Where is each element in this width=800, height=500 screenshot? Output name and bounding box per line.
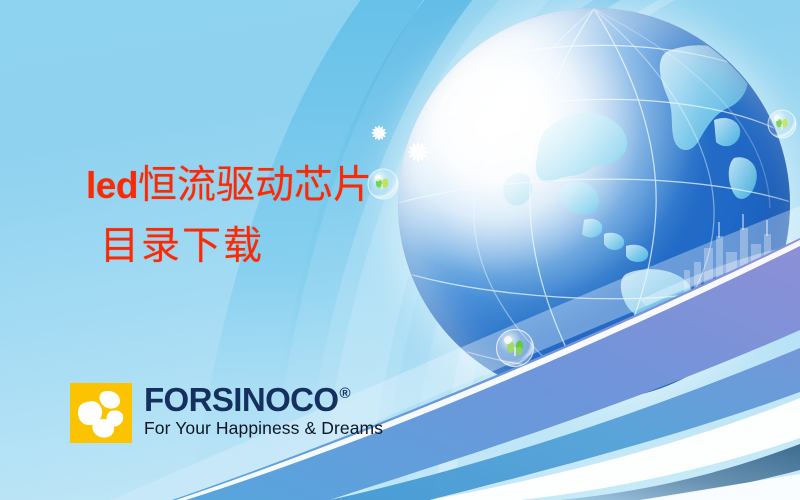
headline-line-2: 目录下载 [100,227,486,266]
pinwheel-flower-mark [70,383,132,443]
logo-text-block: FORSINOCO ® For Your Happiness & Dreams [144,383,383,439]
headline-text: led恒流驱动芯片 目录下载 [86,166,486,266]
pinwheel-flower-icon [70,383,132,443]
registered-trademark-icon: ® [339,386,349,401]
headline-cjk-suffix: 恒流驱动芯片 [138,164,372,207]
promo-banner: led恒流驱动芯片 目录下载 FORSINOCO ® [0,0,800,500]
headline-latin-prefix: led [86,165,138,206]
logo-tagline: For Your Happiness & Dreams [144,418,383,439]
sparkle-asterisk-2 [372,126,387,141]
logo-wordmark-label: FORSINOCO [144,384,338,416]
headline-line-1: led恒流驱动芯片 [86,166,486,205]
forsinoco-logo: FORSINOCO ® For Your Happiness & Dreams [70,383,383,443]
logo-wordmark: FORSINOCO ® [144,384,383,416]
